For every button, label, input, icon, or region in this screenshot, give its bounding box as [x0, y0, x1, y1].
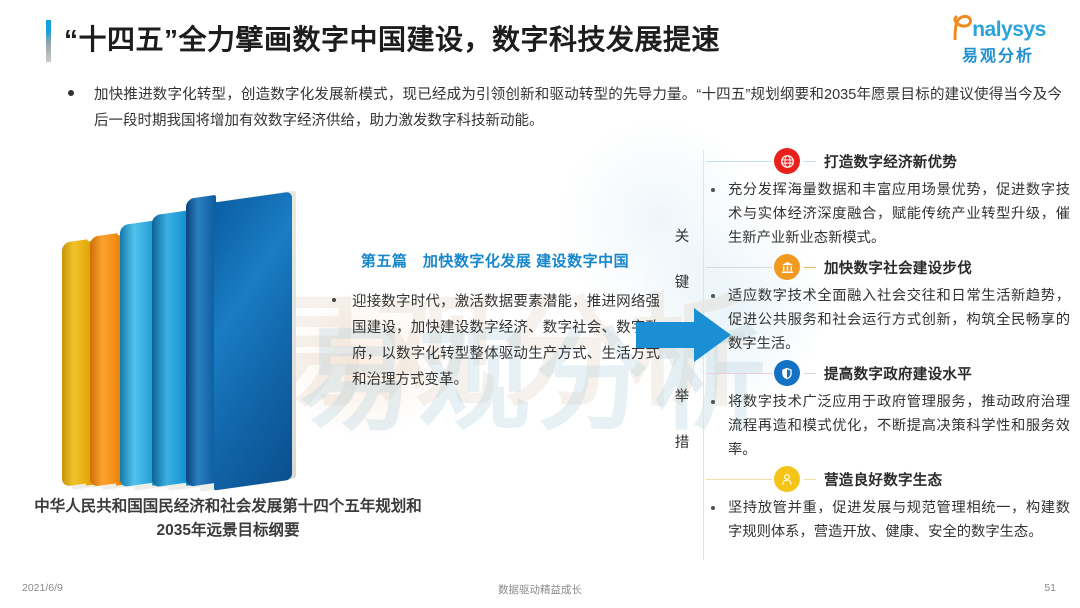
- section-3-body: 将数字技术广泛应用于政府管理服务，推动政府治理流程再造和模式优化，不断提高决策科…: [706, 390, 1072, 464]
- vertical-label-char-2: 举: [670, 374, 694, 420]
- section-2-rule-left: [706, 267, 772, 268]
- section-1-text: 充分发挥海量数据和丰富应用场景优势，促进数字技术与实体经济深度融合，赋能传统产业…: [728, 178, 1070, 250]
- analysys-logo-cn: 易观分析: [938, 42, 1058, 66]
- book-1-spine: [62, 239, 88, 487]
- analysys-wordmark: nalysys: [972, 19, 1046, 40]
- section-3-text: 将数字技术广泛应用于政府管理服务，推动政府治理流程再造和模式优化，不断提高决策科…: [728, 390, 1070, 462]
- books-illustration: [40, 165, 300, 485]
- title-accent-bar: [46, 20, 51, 62]
- section-4-rule-mid: [804, 479, 816, 480]
- middle-title: 第五篇 加快数字化发展 建设数字中国: [330, 250, 660, 271]
- middle-block: 第五篇 加快数字化发展 建设数字中国 迎接数字时代，激活数据要素潜能，推进网络强…: [330, 250, 660, 393]
- book-5-darkblue: [186, 197, 290, 485]
- section-4-rule-left: [706, 479, 772, 480]
- middle-text: 迎接数字时代，激活数据要素潜能，推进网络强国建设，加快建设数字经济、数字社会、数…: [352, 289, 660, 393]
- book-4-spine: [152, 210, 188, 487]
- section-1-header: 打造数字经济新优势: [706, 146, 1072, 176]
- person-icon-glyph: [780, 472, 794, 487]
- globe-icon: [774, 148, 800, 174]
- bullet-dot-icon: [68, 90, 74, 96]
- section-4-body: 坚持放管并重，促进发展与规范管理相统一，构建数字规则体系，营造开放、健康、安全的…: [706, 496, 1072, 546]
- section-2-rule-mid: [804, 267, 816, 268]
- section-2-title: 加快数字社会建设步伐: [824, 257, 972, 278]
- section-3-header: 提高数字政府建设水平: [706, 358, 1072, 388]
- section-4-text: 坚持放管并重，促进发展与规范管理相统一，构建数字规则体系，营造开放、健康、安全的…: [728, 496, 1070, 544]
- vertical-label-char-0: 关: [670, 214, 694, 260]
- bank-building-icon: [774, 254, 800, 280]
- section-3-rule-mid: [804, 373, 816, 374]
- section-4-title: 营造良好数字生态: [824, 469, 942, 490]
- globe-icon-glyph: [780, 154, 795, 169]
- books-caption: 中华人民共和国国民经济和社会发展第十四个五年规划和2035年远景目标纲要: [18, 495, 438, 543]
- section-3-rule-left: [706, 373, 772, 374]
- book-5-spine: [186, 195, 216, 487]
- section-3-title: 提高数字政府建设水平: [824, 363, 972, 384]
- slide-canvas: 易观分析 易观分析 “十四五”全力擘画数字中国建设，数字科技发展提速 nalys…: [0, 0, 1080, 608]
- slide-footer: 2021/6/9 数据驱动精益成长 51: [0, 574, 1080, 608]
- section-2: 加快数字社会建设步伐 适应数字技术全面融入社会交往和日常生活新趋势，促进公共服务…: [706, 252, 1072, 358]
- bullet-dot-icon: [332, 298, 336, 302]
- shield-icon: [774, 360, 800, 386]
- bank-building-icon-glyph: [780, 260, 795, 275]
- section-1-rule-mid: [804, 161, 816, 162]
- vertical-label-char-1: 键: [670, 260, 694, 306]
- vertical-label-char-3: 措: [670, 420, 694, 466]
- book-5-cover: [214, 192, 292, 491]
- analysys-mark-icon: [950, 14, 974, 40]
- bullet-dot-icon: [711, 294, 715, 298]
- key-measures-list: 打造数字经济新优势 充分发挥海量数据和丰富应用场景优势，促进数字技术与实体经济深…: [706, 146, 1072, 546]
- section-3: 提高数字政府建设水平 将数字技术广泛应用于政府管理服务，推动政府治理流程再造和模…: [706, 358, 1072, 464]
- page-title: “十四五”全力擘画数字中国建设，数字科技发展提速: [64, 18, 720, 58]
- intro-paragraph: 加快推进数字化转型，创造数字化发展新模式，现已经成为引领创新和驱动转型的先导力量…: [62, 82, 1062, 134]
- section-1-rule-left: [706, 161, 772, 162]
- person-icon: [774, 466, 800, 492]
- footer-page-number: 51: [1044, 582, 1056, 594]
- bullet-dot-icon: [711, 400, 715, 404]
- book-3-spine: [120, 221, 154, 488]
- intro-text: 加快推进数字化转型，创造数字化发展新模式，现已经成为引领创新和驱动转型的先导力量…: [94, 82, 1062, 134]
- section-2-text: 适应数字技术全面融入社会交往和日常生活新趋势，促进公共服务和社会运行方式创新，构…: [728, 284, 1070, 356]
- bullet-dot-icon: [711, 506, 715, 510]
- footer-slogan: 数据驱动精益成长: [0, 582, 1080, 597]
- middle-body: 迎接数字时代，激活数据要素潜能，推进网络强国建设，加快建设数字经济、数字社会、数…: [330, 289, 660, 393]
- section-4-header: 营造良好数字生态: [706, 464, 1072, 494]
- analysys-logo: nalysys 易观分析: [938, 14, 1058, 62]
- shield-icon-glyph: [780, 366, 794, 381]
- section-2-body: 适应数字技术全面融入社会交往和日常生活新趋势，促进公共服务和社会运行方式创新，构…: [706, 284, 1072, 358]
- section-4: 营造良好数字生态 坚持放管并重，促进发展与规范管理相统一，构建数字规则体系，营造…: [706, 464, 1072, 546]
- bullet-dot-icon: [711, 188, 715, 192]
- section-1-title: 打造数字经济新优势: [824, 151, 957, 172]
- slide-header: “十四五”全力擘画数字中国建设，数字科技发展提速 nalysys 易观分析: [0, 0, 1080, 72]
- book-2-spine: [90, 233, 118, 487]
- section-2-header: 加快数字社会建设步伐: [706, 252, 1072, 282]
- section-1-body: 充分发挥海量数据和丰富应用场景优势，促进数字技术与实体经济深度融合，赋能传统产业…: [706, 178, 1072, 252]
- section-1: 打造数字经济新优势 充分发挥海量数据和丰富应用场景优势，促进数字技术与实体经济深…: [706, 146, 1072, 252]
